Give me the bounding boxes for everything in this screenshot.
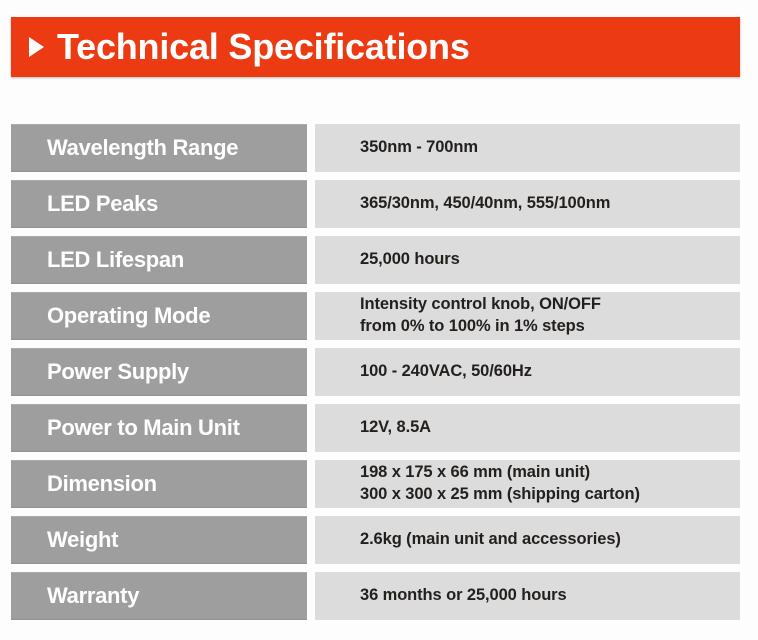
spec-value-line: 2.6kg (main unit and accessories) xyxy=(360,529,740,551)
table-row: Wavelength Range350nm - 700nm xyxy=(0,124,758,172)
table-row: Operating ModeIntensity control knob, ON… xyxy=(0,292,758,340)
spec-value-cell: 12V, 8.5A xyxy=(315,404,740,452)
spec-value-line: 100 - 240VAC, 50/60Hz xyxy=(360,361,740,383)
spec-label-cell: LED Lifespan xyxy=(11,236,307,284)
spec-value-cell: Intensity control knob, ON/OFFfrom 0% to… xyxy=(315,292,740,340)
spec-label-cell: LED Peaks xyxy=(11,180,307,228)
spec-label-cell: Operating Mode xyxy=(11,292,307,340)
spec-value-line: 365/30nm, 450/40nm, 555/100nm xyxy=(360,193,740,215)
section-header-banner: Technical Specifications xyxy=(11,17,740,77)
spec-value-line: 12V, 8.5A xyxy=(360,417,740,439)
spec-value-line: Intensity control knob, ON/OFF xyxy=(360,294,740,316)
spec-value-cell: 100 - 240VAC, 50/60Hz xyxy=(315,348,740,396)
table-row: LED Lifespan25,000 hours xyxy=(0,236,758,284)
spec-label-cell: Dimension xyxy=(11,460,307,508)
specifications-page: Technical Specifications Wavelength Rang… xyxy=(0,0,758,640)
spec-value-cell: 25,000 hours xyxy=(315,236,740,284)
spec-value-line: 25,000 hours xyxy=(360,249,740,271)
page-title: Technical Specifications xyxy=(57,29,470,65)
table-row: Power to Main Unit12V, 8.5A xyxy=(0,404,758,452)
spec-value-cell: 36 months or 25,000 hours xyxy=(315,572,740,620)
specifications-table: Wavelength Range350nm - 700nmLED Peaks36… xyxy=(0,124,758,628)
spec-value-line: from 0% to 100% in 1% steps xyxy=(360,316,740,338)
spec-value-cell: 2.6kg (main unit and accessories) xyxy=(315,516,740,564)
right-triangle-bullet-icon xyxy=(29,37,44,57)
spec-label-cell: Power Supply xyxy=(11,348,307,396)
spec-value-line: 350nm - 700nm xyxy=(360,137,740,159)
table-row: Power Supply100 - 240VAC, 50/60Hz xyxy=(0,348,758,396)
table-row: Dimension198 x 175 x 66 mm (main unit)30… xyxy=(0,460,758,508)
spec-label-cell: Weight xyxy=(11,516,307,564)
spec-value-cell: 350nm - 700nm xyxy=(315,124,740,172)
spec-value-line: 36 months or 25,000 hours xyxy=(360,585,740,607)
spec-value-line: 300 x 300 x 25 mm (shipping carton) xyxy=(360,484,740,506)
table-row: Warranty36 months or 25,000 hours xyxy=(0,572,758,620)
spec-value-cell: 365/30nm, 450/40nm, 555/100nm xyxy=(315,180,740,228)
spec-value-cell: 198 x 175 x 66 mm (main unit)300 x 300 x… xyxy=(315,460,740,508)
spec-label-cell: Power to Main Unit xyxy=(11,404,307,452)
spec-label-cell: Wavelength Range xyxy=(11,124,307,172)
spec-value-line: 198 x 175 x 66 mm (main unit) xyxy=(360,462,740,484)
spec-label-cell: Warranty xyxy=(11,572,307,620)
table-row: LED Peaks365/30nm, 450/40nm, 555/100nm xyxy=(0,180,758,228)
table-row: Weight2.6kg (main unit and accessories) xyxy=(0,516,758,564)
